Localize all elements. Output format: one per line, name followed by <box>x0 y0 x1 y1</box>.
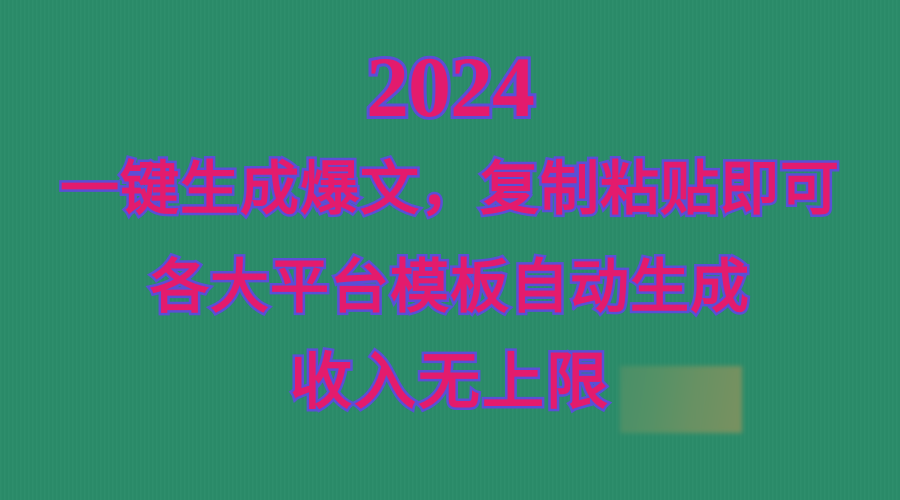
blurred-watermark-region <box>620 366 742 433</box>
promo-line-feature: 各大平台模板自动生成 <box>0 258 900 317</box>
promo-text-stack: 2024 一键生成爆文，复制粘贴即可 各大平台模板自动生成 收入无上限 <box>0 0 900 500</box>
promo-line-headline: 一键生成爆文，复制粘贴即可 <box>0 160 900 219</box>
promo-line-income: 收入无上限 <box>0 352 900 414</box>
promo-line-year: 2024 <box>0 44 900 130</box>
promo-poster: 2024 一键生成爆文，复制粘贴即可 各大平台模板自动生成 收入无上限 <box>0 0 900 500</box>
